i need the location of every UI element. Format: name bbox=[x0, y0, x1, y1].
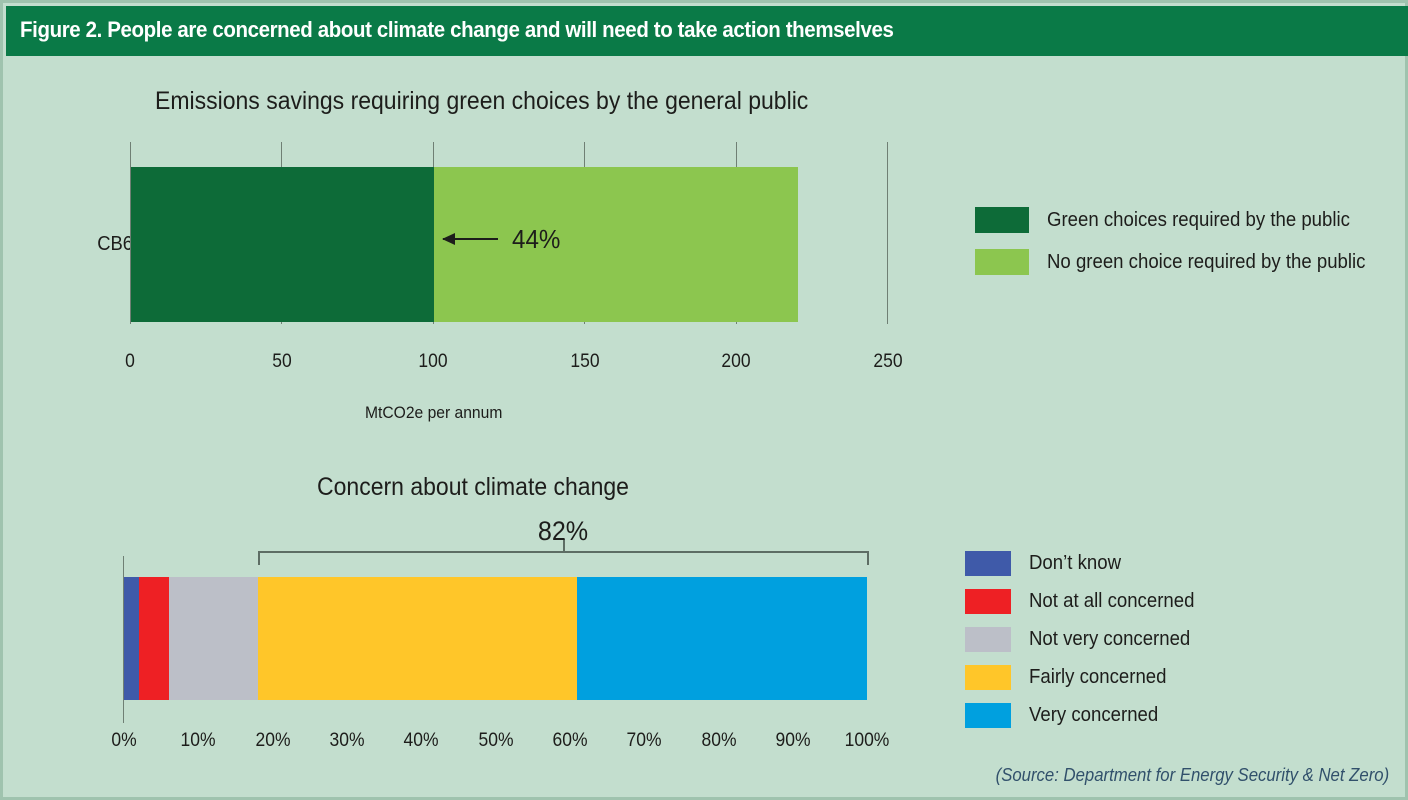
chart1-annotation-44: 44% bbox=[512, 224, 560, 255]
chart2-legend-item-not-very-concerned[interactable]: Not very concerned bbox=[965, 627, 1207, 652]
chart2-ticklabel-100: 100% bbox=[835, 730, 899, 752]
chart1-bar-cb6 bbox=[131, 167, 798, 322]
chart2-legend-item-very-concerned[interactable]: Very concerned bbox=[965, 703, 1207, 728]
chart1-legend-swatch-dark-green bbox=[975, 207, 1029, 233]
chart1-segment-green-choices-required bbox=[131, 167, 434, 322]
chart1-legend-swatch-light-green bbox=[975, 249, 1029, 275]
chart2-legend-label-not-very-concerned: Not very concerned bbox=[1029, 628, 1190, 651]
chart1-axis-caption: MtCO2e per annum bbox=[365, 403, 502, 423]
chart2-legend-item-fairly-concerned[interactable]: Fairly concerned bbox=[965, 665, 1207, 690]
chart1-legend-label-no-green-choice: No green choice required by the public bbox=[1047, 251, 1365, 274]
chart2-segment-not-very-concerned bbox=[169, 577, 258, 700]
chart1-ticklabel-200: 200 bbox=[699, 351, 773, 373]
chart2-legend-label-not-at-all-concerned: Not at all concerned bbox=[1029, 590, 1194, 613]
chart1-legend-item-green-choices[interactable]: Green choices required by the public bbox=[975, 207, 1389, 233]
chart2-legend-swatch-cyan bbox=[965, 703, 1011, 728]
chart2-ticklabel-40: 40% bbox=[389, 730, 453, 752]
chart2-legend-swatch-blue bbox=[965, 551, 1011, 576]
chart1-legend-label-green-choices: Green choices required by the public bbox=[1047, 209, 1350, 232]
chart2-ticklabel-90: 90% bbox=[761, 730, 825, 752]
chart2-legend: Don’t know Not at all concerned Not very… bbox=[965, 551, 1207, 728]
chart2-bracket-label-82: 82% bbox=[507, 516, 619, 547]
chart1-title: Emissions savings requiring green choice… bbox=[155, 87, 808, 116]
chart1-tick-250 bbox=[887, 142, 888, 324]
chart1-ticklabel-150: 150 bbox=[548, 351, 622, 373]
chart2-legend-swatch-red bbox=[965, 589, 1011, 614]
chart2-segment-dont-know bbox=[124, 577, 139, 700]
chart2-ticklabel-80: 80% bbox=[687, 730, 751, 752]
chart2-bracket bbox=[258, 551, 869, 565]
chart1-category-label: CB6 bbox=[41, 233, 133, 256]
chart2-ticklabel-10: 10% bbox=[166, 730, 230, 752]
chart2-legend-swatch-grey bbox=[965, 627, 1011, 652]
chart1-annotation-arrow-icon bbox=[443, 238, 498, 240]
chart2-ticklabel-20: 20% bbox=[241, 730, 305, 752]
chart2-ticklabel-70: 70% bbox=[612, 730, 676, 752]
chart2-bar-concern bbox=[124, 577, 867, 700]
chart2-segment-very-concerned bbox=[577, 577, 867, 700]
chart2-ticklabel-60: 60% bbox=[538, 730, 602, 752]
chart2-ticklabel-0: 0% bbox=[92, 730, 156, 752]
chart2-legend-item-dont-know[interactable]: Don’t know bbox=[965, 551, 1207, 576]
figure-container: Figure 2. People are concerned about cli… bbox=[0, 0, 1408, 800]
chart1-ticklabel-50: 50 bbox=[245, 351, 319, 373]
chart1-legend-item-no-green-choice[interactable]: No green choice required by the public bbox=[975, 249, 1389, 275]
chart2-legend-item-not-at-all-concerned[interactable]: Not at all concerned bbox=[965, 589, 1207, 614]
chart1-ticklabel-100: 100 bbox=[396, 351, 470, 373]
chart2-legend-swatch-yellow bbox=[965, 665, 1011, 690]
chart1-ticklabel-0: 0 bbox=[93, 351, 167, 373]
figure-header-bar: Figure 2. People are concerned about cli… bbox=[6, 6, 1408, 56]
chart2-legend-label-fairly-concerned: Fairly concerned bbox=[1029, 666, 1166, 689]
chart2-ticklabel-50: 50% bbox=[464, 730, 528, 752]
chart2-title: Concern about climate change bbox=[317, 473, 629, 502]
chart2-segment-not-at-all-concerned bbox=[139, 577, 169, 700]
chart2-legend-label-dont-know: Don’t know bbox=[1029, 552, 1121, 575]
source-note: (Source: Department for Energy Security … bbox=[995, 765, 1389, 786]
chart1-legend: Green choices required by the public No … bbox=[975, 207, 1389, 275]
chart1-ticklabel-250: 250 bbox=[851, 351, 925, 373]
figure-title: Figure 2. People are concerned about cli… bbox=[20, 17, 893, 43]
chart1-segment-no-green-choice-required bbox=[434, 167, 798, 322]
chart2-legend-label-very-concerned: Very concerned bbox=[1029, 704, 1158, 727]
chart2-ticklabel-30: 30% bbox=[315, 730, 379, 752]
chart2-segment-fairly-concerned bbox=[258, 577, 577, 700]
